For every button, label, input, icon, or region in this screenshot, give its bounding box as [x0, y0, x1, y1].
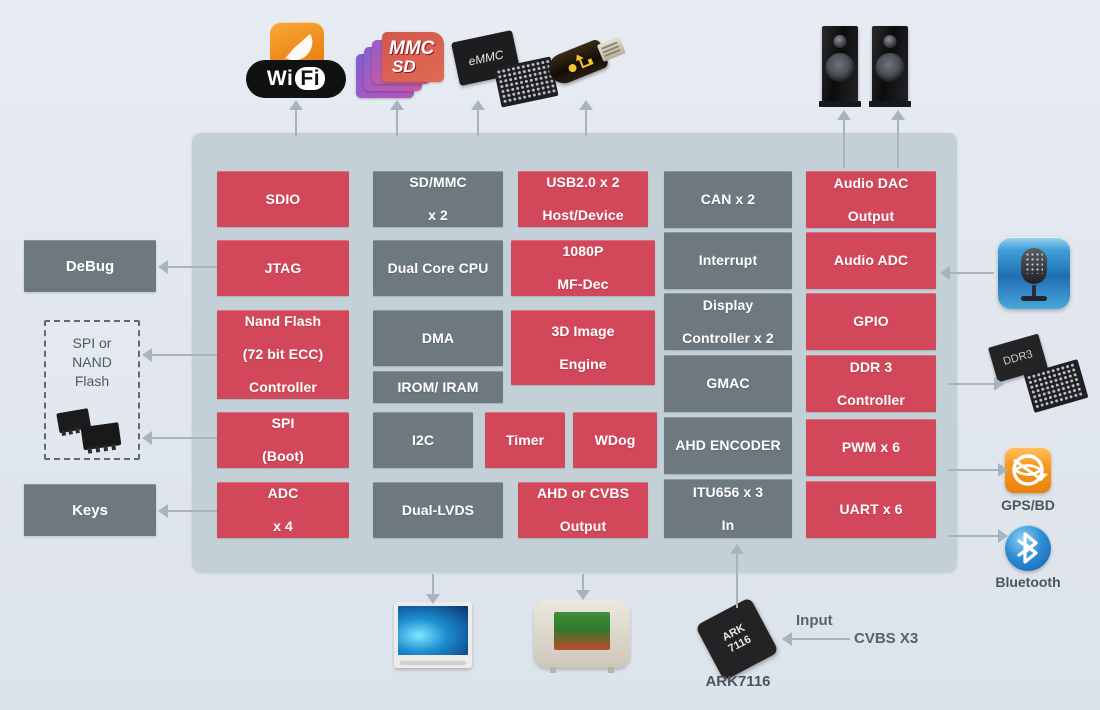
arrow-audioadc — [940, 266, 950, 280]
arrow-keys — [158, 504, 168, 518]
connector-sdio — [295, 108, 297, 136]
keys-label: Keys — [72, 502, 108, 519]
block-adc-x4[interactable]: ADCx 4 — [217, 482, 349, 538]
arrow-lvds — [426, 594, 440, 604]
monitor-icon — [394, 602, 472, 668]
diagram-canvas: WiFi MMC SD eMMC — [0, 0, 1100, 710]
block-nand-flash-controller[interactable]: Nand Flash(72 bit ECC)Controller — [217, 310, 349, 399]
arrow-nandflash — [142, 348, 152, 362]
block-interrupt[interactable]: Interrupt — [664, 232, 792, 289]
arrow-ahdcvbs — [576, 590, 590, 600]
block-ahd-or-cvbs-output[interactable]: AHD or CVBSOutput — [518, 482, 648, 538]
connector-bluetooth — [948, 535, 1000, 537]
block-jtag[interactable]: JTAG — [217, 240, 349, 296]
debug-label: DeBug — [66, 258, 114, 275]
microphone-icon — [998, 237, 1070, 309]
arrow-cvbs — [782, 632, 792, 646]
arrow-debug — [158, 260, 168, 274]
block-dual-core-cpu[interactable]: Dual Core CPU — [373, 240, 503, 296]
connector-lvds — [432, 574, 434, 596]
arrow-bluetooth — [998, 529, 1008, 543]
arrow-gps — [998, 463, 1008, 477]
connector-usb — [585, 108, 587, 136]
periph-spi-or-nand-flash[interactable]: SPI or NAND Flash — [44, 320, 140, 460]
ddr3-label: DDR3 — [1002, 348, 1034, 368]
arrow-emmc — [471, 100, 485, 110]
block-audio-dac-output[interactable]: Audio DACOutput — [806, 171, 936, 228]
connector-nandflash — [150, 354, 218, 356]
connector-debug — [166, 266, 218, 268]
connector-speaker-right — [897, 118, 899, 168]
headrest-display-icon — [534, 600, 630, 668]
block-can-x2[interactable]: CAN x 2 — [664, 171, 792, 228]
arrow-sdio — [289, 100, 303, 110]
block-i2c[interactable]: I2C — [373, 412, 473, 468]
input-label: Input — [796, 612, 833, 629]
speaker-icon — [822, 26, 912, 116]
block-display-controller-x2[interactable]: DisplayController x 2 — [664, 293, 792, 350]
wifi-icon: WiFi — [246, 22, 346, 98]
block-itu656-x3-in[interactable]: ITU656 x 3In — [664, 479, 792, 538]
arrow-speaker-left — [837, 110, 851, 120]
emmc-chip-icon: eMMC — [455, 36, 555, 104]
cvbs-label: CVBS X3 — [854, 630, 918, 647]
block-timer[interactable]: Timer — [485, 412, 565, 468]
block-spi-boot[interactable]: SPI(Boot) — [217, 412, 349, 468]
arrow-usb — [579, 100, 593, 110]
bluetooth-icon — [1005, 525, 1051, 571]
block-ahd-encoder[interactable]: AHD ENCODER — [664, 417, 792, 474]
connector-gps — [948, 469, 1000, 471]
emmc-label: eMMC — [467, 47, 504, 68]
wifi-wordmark: WiFi — [246, 60, 346, 98]
bluetooth-label: Bluetooth — [980, 574, 1076, 590]
ark7116-icon: ARK 7116 — [695, 597, 779, 681]
block-irom-iram[interactable]: IROM/ IRAM — [373, 371, 503, 403]
connector-ddr3 — [948, 383, 996, 385]
connector-sdmmc — [396, 108, 398, 136]
spi-nand-line1: SPI or — [46, 334, 138, 353]
arrow-itu656 — [730, 544, 744, 554]
block-1080p-mfdec[interactable]: 1080PMF-Dec — [511, 240, 655, 296]
block-uart-x6[interactable]: UART x 6 — [806, 481, 936, 538]
block-usb20-x2[interactable]: USB2.0 x 2Host/Device — [518, 171, 648, 227]
connector-spiboot — [150, 437, 218, 439]
block-dual-lvds[interactable]: Dual-LVDS — [373, 482, 503, 538]
block-ddr3-controller[interactable]: DDR 3Controller — [806, 355, 936, 412]
arrow-ddr3 — [994, 377, 1004, 391]
flash-chip-icon — [54, 404, 134, 461]
spi-nand-line3: Flash — [46, 372, 138, 391]
periph-debug[interactable]: DeBug — [24, 240, 156, 292]
block-gpio[interactable]: GPIO — [806, 293, 936, 350]
block-audio-adc[interactable]: Audio ADC — [806, 232, 936, 289]
connector-speaker-left — [843, 118, 845, 168]
block-pwm-x6[interactable]: PWM x 6 — [806, 419, 936, 476]
connector-keys — [166, 510, 218, 512]
block-wdog[interactable]: WDog — [573, 412, 657, 468]
connector-audioadc — [948, 272, 994, 274]
periph-keys[interactable]: Keys — [24, 484, 156, 536]
wifi-label-fi: Fi — [295, 67, 325, 90]
arrow-sdmmc — [390, 100, 404, 110]
sd-card-icon: MMC SD — [356, 32, 448, 102]
arrow-speaker-right — [891, 110, 905, 120]
usb-drive-icon — [548, 40, 628, 100]
ark7116-caption: ARK7116 — [690, 673, 786, 690]
block-gmac[interactable]: GMAC — [664, 355, 792, 412]
wifi-label-wi: Wi — [267, 67, 293, 90]
connector-itu656 — [736, 552, 738, 608]
sd-label: SD — [392, 57, 416, 77]
ddr3-chip-icon: DDR3 — [992, 340, 1087, 420]
block-sdio[interactable]: SDIO — [217, 171, 349, 227]
connector-emmc — [477, 108, 479, 136]
arrow-spiboot — [142, 431, 152, 445]
gps-label: GPS/BD — [985, 497, 1071, 513]
block-3d-image-engine[interactable]: 3D ImageEngine — [511, 310, 655, 385]
gps-icon — [1005, 447, 1051, 493]
block-sd-mmc-x2[interactable]: SD/MMCx 2 — [373, 171, 503, 227]
connector-cvbs — [790, 638, 850, 640]
spi-nand-line2: NAND — [46, 353, 138, 372]
block-dma[interactable]: DMA — [373, 310, 503, 366]
